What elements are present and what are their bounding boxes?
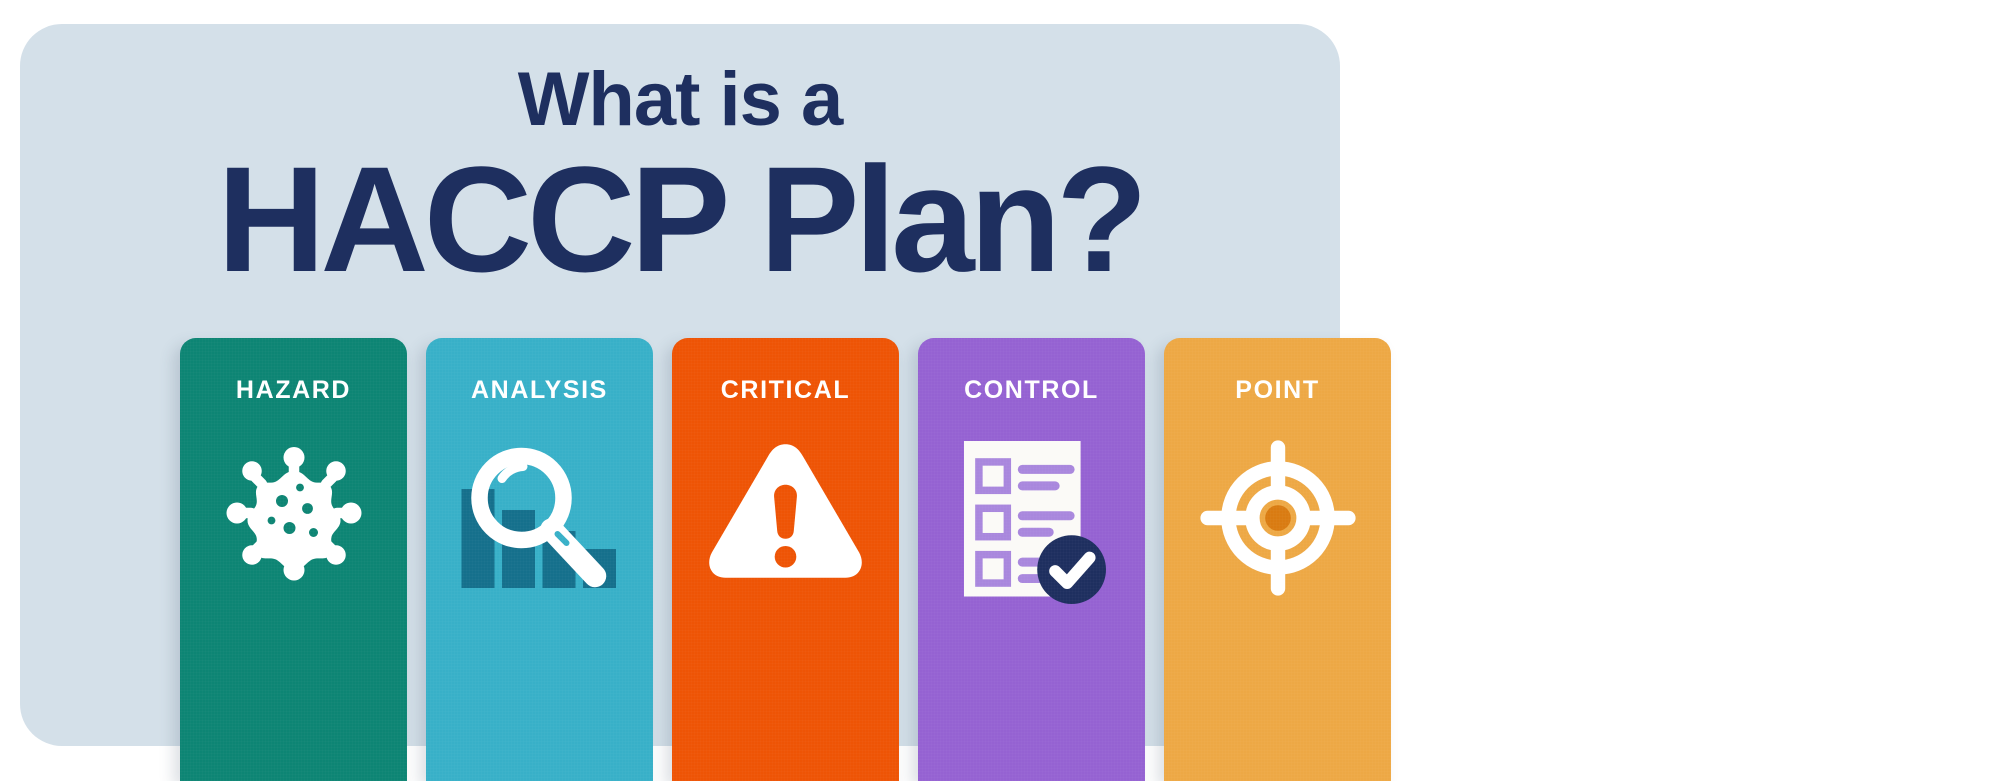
page-title-line-2: HACCP Plan? bbox=[20, 144, 1340, 294]
page-title-line-1: What is a bbox=[20, 58, 1340, 142]
card-critical[interactable]: CRITICAL bbox=[672, 338, 899, 781]
infographic-canvas: What is a HACCP Plan? HAZARD bbox=[0, 0, 2000, 781]
card-label-hazard: HAZARD bbox=[180, 376, 407, 405]
germ-icon bbox=[180, 438, 407, 588]
card-label-control: CONTROL bbox=[918, 376, 1145, 405]
card-hazard[interactable]: HAZARD bbox=[180, 338, 407, 781]
haccp-acronym-card-row: HAZARD bbox=[180, 338, 1390, 781]
card-label-analysis: ANALYSIS bbox=[426, 376, 653, 405]
card-control[interactable]: CONTROL bbox=[918, 338, 1145, 781]
card-label-point: POINT bbox=[1164, 376, 1391, 405]
target-crosshair-icon bbox=[1164, 438, 1391, 598]
card-analysis[interactable]: ANALYSIS bbox=[426, 338, 653, 781]
checklist-document-icon bbox=[918, 438, 1145, 604]
magnifier-bar-chart-icon bbox=[426, 438, 653, 588]
card-label-critical: CRITICAL bbox=[672, 376, 899, 405]
card-point[interactable]: POINT bbox=[1164, 338, 1391, 781]
page-title: What is a HACCP Plan? bbox=[20, 58, 1340, 294]
warning-triangle-icon bbox=[672, 438, 899, 584]
